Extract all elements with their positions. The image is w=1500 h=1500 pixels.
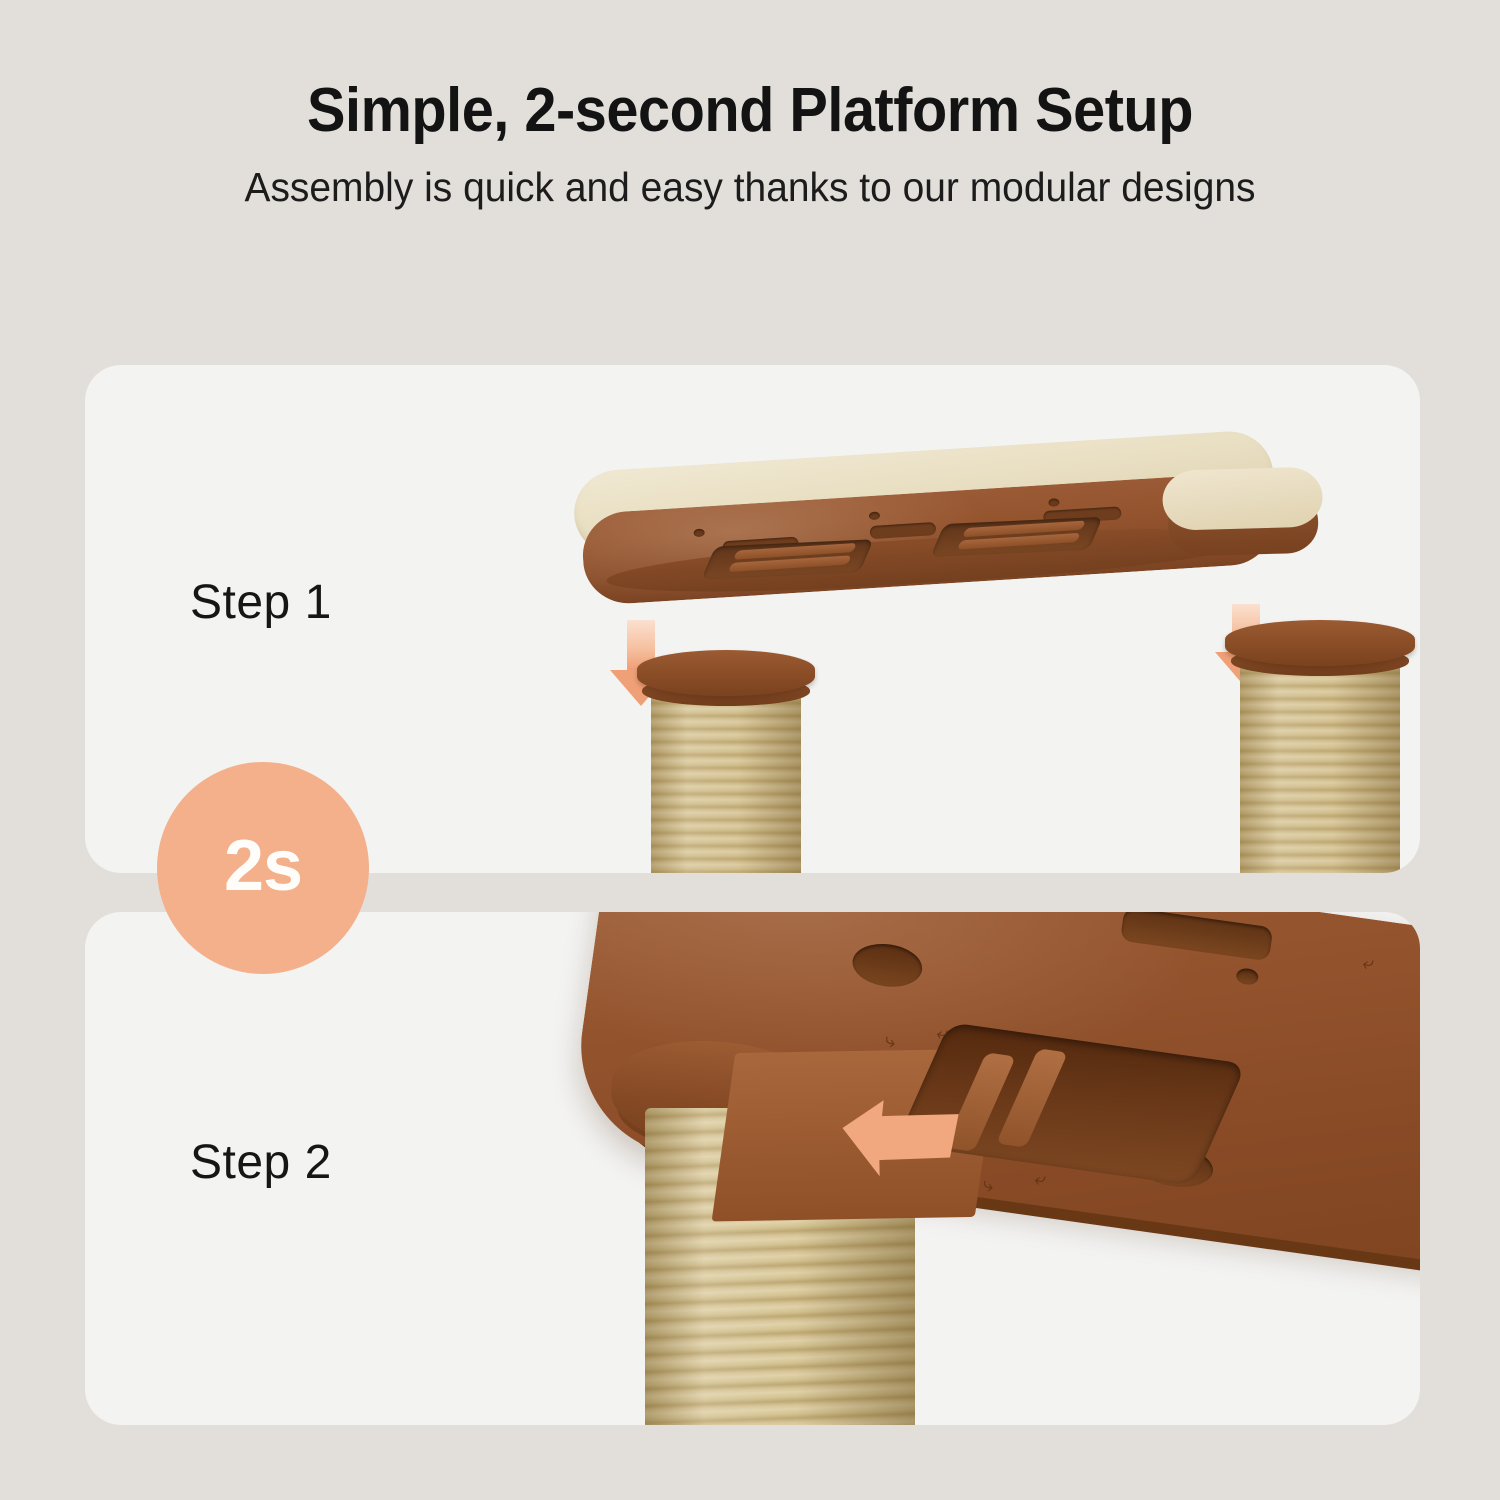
page-title: Simple, 2-second Platform Setup bbox=[53, 0, 1448, 143]
platform-hole bbox=[1235, 967, 1259, 986]
step-2-label: Step 2 bbox=[190, 1135, 332, 1190]
sisal-rope bbox=[1240, 666, 1400, 873]
platform-hole bbox=[693, 529, 704, 538]
left-arrow-icon bbox=[836, 1084, 963, 1188]
left-arrow-shape bbox=[836, 1084, 963, 1188]
platform-hole bbox=[850, 940, 925, 991]
platform-slot bbox=[870, 522, 937, 539]
sisal-rope bbox=[651, 696, 801, 873]
platform-groove bbox=[1120, 912, 1273, 961]
duration-badge: 2s bbox=[157, 762, 369, 974]
page-subtitle: Assembly is quick and easy thanks to our… bbox=[38, 143, 1463, 210]
post-cap bbox=[637, 650, 815, 696]
post-cap bbox=[1225, 620, 1415, 666]
page-header: Simple, 2-second Platform Setup Assembly… bbox=[0, 0, 1500, 210]
platform-hole bbox=[1048, 498, 1059, 507]
sisal-post-left bbox=[637, 650, 815, 873]
duration-badge-label: 2s bbox=[224, 830, 302, 902]
sisal-post-right bbox=[1225, 620, 1415, 873]
platform-hole bbox=[869, 511, 880, 520]
platform-graphic bbox=[572, 428, 1299, 603]
step-1-label: Step 1 bbox=[190, 575, 332, 630]
platform-notch-top bbox=[1162, 466, 1324, 530]
